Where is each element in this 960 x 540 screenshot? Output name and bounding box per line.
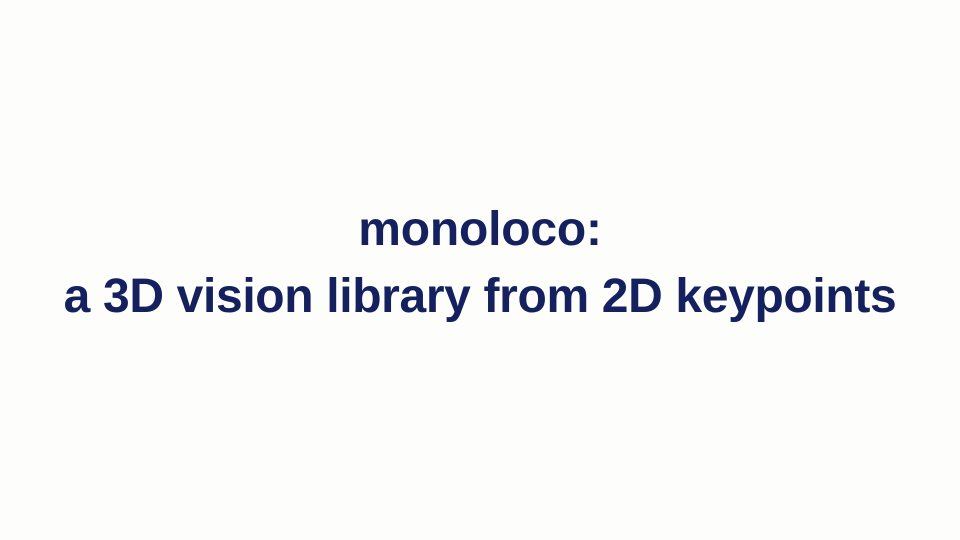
title-line-project-name: monoloco: — [0, 196, 960, 263]
title-block: monoloco: a 3D vision library from 2D ke… — [0, 196, 960, 330]
slide-canvas: monoloco: a 3D vision library from 2D ke… — [0, 0, 960, 540]
title-line-subtitle: a 3D vision library from 2D keypoints — [0, 263, 960, 330]
